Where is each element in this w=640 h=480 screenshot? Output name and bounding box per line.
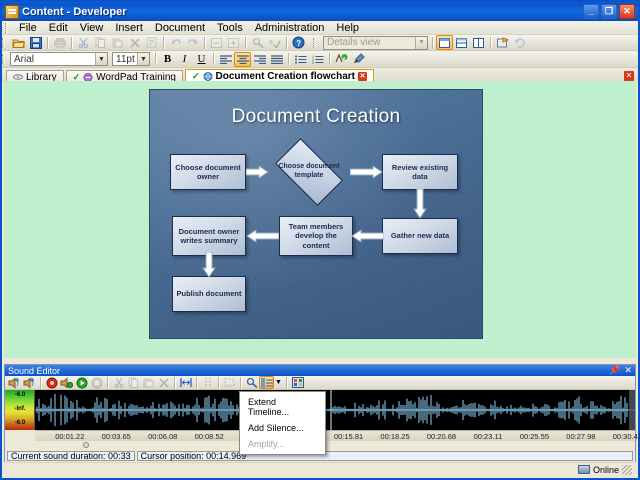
- app-icon: [5, 5, 19, 19]
- node-label: Choose document template: [267, 163, 351, 181]
- close-icon[interactable]: ✕: [624, 365, 632, 376]
- view-select: Details view ▼: [323, 36, 428, 50]
- ruler-tick: 00:08.52: [195, 432, 224, 441]
- bold-label: B: [164, 53, 171, 65]
- menu-file[interactable]: File: [13, 22, 43, 34]
- chevron-down-icon[interactable]: ▼: [415, 37, 427, 49]
- toolbar-separator: [213, 53, 214, 65]
- svg-text:?: ?: [296, 39, 301, 48]
- record-append-icon[interactable]: [59, 376, 74, 389]
- timeline-marker-handle[interactable]: [83, 442, 89, 448]
- copy-icon[interactable]: [92, 35, 109, 50]
- toolbar-separator: [240, 377, 241, 389]
- underline-label: U: [198, 53, 206, 65]
- print-icon[interactable]: [51, 35, 68, 50]
- align-justify-icon[interactable]: [268, 52, 285, 67]
- cut-icon[interactable]: [111, 376, 126, 389]
- connection-status: Online: [593, 465, 619, 475]
- open-folder-icon[interactable]: [10, 35, 27, 50]
- auto-hide-pin-icon[interactable]: 📌: [609, 365, 620, 376]
- toolbar-separator: [432, 37, 433, 49]
- toolbar-separator: [286, 377, 287, 389]
- settings-icon[interactable]: [200, 376, 215, 389]
- toolbar-separator: [490, 37, 491, 49]
- menu-administration[interactable]: Administration: [249, 22, 331, 34]
- bullet-list-icon[interactable]: [292, 52, 309, 67]
- paste-icon[interactable]: [109, 35, 126, 50]
- indent-left-icon[interactable]: [208, 35, 225, 50]
- bold-button[interactable]: B: [159, 52, 176, 67]
- menu-view[interactable]: View: [74, 22, 110, 34]
- sound-editor-toolbar: ▼: [5, 376, 635, 390]
- toolbar-grip-2[interactable]: [313, 38, 316, 48]
- application-window: Content - Developer _ ❐ ✕ File Edit View…: [0, 0, 640, 480]
- waveform-svg: [35, 390, 635, 430]
- align-center-icon[interactable]: [234, 52, 251, 67]
- toolbar-separator: [288, 53, 289, 65]
- flow-arrow-team-to-summary: [246, 228, 279, 244]
- chevron-down-icon[interactable]: ▼: [95, 53, 107, 65]
- node-label: Publish document: [176, 289, 241, 298]
- menu-bar: File Edit View Insert Document Tools Adm…: [2, 21, 638, 35]
- insert-sound-alt-icon[interactable]: [22, 376, 37, 389]
- title-bar: Content - Developer _ ❐ ✕: [2, 2, 638, 21]
- svg-text:3: 3: [312, 61, 314, 64]
- flow-node-choose-document-owner[interactable]: Choose document owner: [170, 154, 246, 190]
- select-region-icon[interactable]: [222, 376, 237, 389]
- numbered-list-icon[interactable]: 123: [309, 52, 326, 67]
- effects-context-menu: Extend Timeline... Add Silence... Amplif…: [239, 391, 326, 455]
- toolbar-separator: [71, 37, 72, 49]
- ruler-tick: 00:01.22: [55, 432, 84, 441]
- tab-close-icon[interactable]: ✕: [358, 72, 367, 81]
- menu-tools[interactable]: Tools: [211, 22, 249, 34]
- flow-node-document-owner-writes-summary[interactable]: Document owner writes summary: [172, 216, 246, 256]
- flow-node-gather-new-data[interactable]: Gather new data: [382, 218, 458, 254]
- toolbar-separator: [245, 37, 246, 49]
- node-label: Review existing data: [385, 163, 455, 182]
- cursor-position-status: Cursor position: 00:14.969: [137, 451, 633, 461]
- minimize-button[interactable]: _: [583, 4, 599, 19]
- flowchart-slide: Document Creation Choose document owner …: [149, 89, 483, 339]
- flow-node-team-members-develop-content[interactable]: Team members develop the content: [279, 216, 353, 256]
- meter-label-bottom: -6.0: [6, 420, 34, 426]
- flow-arrow-gather-to-team: [352, 228, 384, 244]
- flow-arrow-review-to-gather: [412, 189, 428, 219]
- menu-help[interactable]: Help: [330, 22, 365, 34]
- toolbar-separator: [204, 37, 205, 49]
- zoom-selection-icon[interactable]: [178, 376, 193, 389]
- meter-label-top: -6.0: [6, 392, 34, 398]
- format-toolbar-grip[interactable]: [2, 54, 5, 64]
- undo-icon[interactable]: [167, 35, 184, 50]
- sound-editor-title-bar: Sound Editor 📌 ✕: [5, 365, 635, 376]
- layout-vertical-split-icon[interactable]: [470, 35, 487, 50]
- align-right-icon[interactable]: [251, 52, 268, 67]
- insert-sound-icon[interactable]: [7, 376, 22, 389]
- spell-language-icon[interactable]: a: [333, 52, 350, 67]
- flow-arrow-summary-to-publish: [201, 252, 217, 278]
- chevron-down-icon[interactable]: ▼: [137, 53, 149, 65]
- save-icon[interactable]: [27, 35, 44, 50]
- menu-document[interactable]: Document: [149, 22, 211, 34]
- spellcheck-icon[interactable]: a: [266, 35, 283, 50]
- redo-icon[interactable]: [184, 35, 201, 50]
- flow-node-publish-document[interactable]: Publish document: [172, 276, 246, 312]
- menu-grip[interactable]: [5, 23, 8, 33]
- node-label: Choose document owner: [173, 163, 243, 182]
- meter-label-middle: -Inf.: [6, 406, 34, 412]
- svg-text:a: a: [343, 55, 346, 60]
- svg-text:a: a: [269, 39, 273, 46]
- close-button[interactable]: ✕: [619, 4, 635, 19]
- ruler-tick: 00:25.55: [520, 432, 549, 441]
- underline-button[interactable]: U: [193, 52, 210, 67]
- font-family-value: Arial: [14, 54, 34, 65]
- stop-icon[interactable]: [89, 376, 104, 389]
- slide-title: Document Creation: [150, 106, 482, 128]
- toolbar-grip[interactable]: [2, 38, 5, 48]
- flow-node-review-existing-data[interactable]: Review existing data: [382, 154, 458, 190]
- menu-item-amplify: Amplify...: [240, 436, 325, 452]
- properties-window-icon[interactable]: [494, 35, 511, 50]
- maximize-button[interactable]: ❐: [601, 4, 617, 19]
- ruler-tick: 00:03.65: [102, 432, 131, 441]
- properties-icon[interactable]: [143, 35, 160, 50]
- format-toolbar: Arial ▼ 11pt ▼ B I U 123: [2, 51, 638, 68]
- sound-editor-title: Sound Editor: [8, 366, 60, 376]
- node-label: Team members develop the content: [282, 222, 350, 250]
- paste-icon[interactable]: [141, 376, 156, 389]
- window-controls: _ ❐ ✕: [583, 4, 636, 19]
- highlight-icon[interactable]: [350, 52, 367, 67]
- font-family-select[interactable]: Arial ▼: [10, 52, 108, 66]
- play-icon[interactable]: [74, 376, 89, 389]
- italic-button[interactable]: I: [176, 52, 193, 67]
- toolbar-separator: [196, 377, 197, 389]
- toolbar-separator: [47, 37, 48, 49]
- document-canvas: Document Creation Choose document owner …: [4, 81, 636, 358]
- node-label: Document owner writes summary: [175, 227, 243, 246]
- ruler-tick: 00:23.11: [474, 432, 503, 441]
- toolbar-separator: [218, 377, 219, 389]
- record-icon[interactable]: [44, 376, 59, 389]
- ruler-tick: 00:30.41: [613, 432, 640, 441]
- node-label: Gather new data: [391, 231, 449, 240]
- effects-menu-icon[interactable]: [259, 376, 274, 389]
- mixer-icon[interactable]: [290, 376, 305, 389]
- globe-icon: [203, 72, 213, 81]
- status-bar: Online: [4, 462, 636, 476]
- layout-single-icon[interactable]: [436, 35, 453, 50]
- window-title: Content - Developer: [22, 6, 127, 18]
- indent-right-icon[interactable]: [225, 35, 242, 50]
- sound-editor-panel-buttons: 📌 ✕: [609, 365, 632, 376]
- flow-arrow-owner-to-template: [246, 164, 269, 180]
- level-meter: -6.0 -Inf. -6.0: [5, 390, 35, 430]
- sound-duration-status: Current sound duration: 00:33: [7, 451, 135, 461]
- toolbar-separator: [40, 377, 41, 389]
- menu-item-extend-timeline[interactable]: Extend Timeline...: [240, 394, 325, 420]
- refresh-icon[interactable]: [511, 35, 528, 50]
- help-icon[interactable]: ?: [290, 35, 307, 50]
- toolbar-separator: [163, 37, 164, 49]
- menu-insert[interactable]: Insert: [109, 22, 149, 34]
- menu-edit[interactable]: Edit: [43, 22, 74, 34]
- timeline-scroll-row[interactable]: [35, 441, 635, 450]
- toolbar-separator: [155, 53, 156, 65]
- toolbar-separator: [329, 53, 330, 65]
- timeline-ruler[interactable]: 00:01.2200:03.6500:06.0800:08.5200:10.95…: [35, 430, 635, 441]
- toolbar-separator: [174, 377, 175, 389]
- toolbar-separator: [286, 37, 287, 49]
- ruler-tick: 00:06.08: [148, 432, 177, 441]
- view-select-value: Details view: [327, 37, 380, 48]
- flow-arrow-template-to-review: [350, 164, 383, 180]
- delete-icon[interactable]: [126, 35, 143, 50]
- main-toolbar: a ? Details view ▼: [2, 35, 638, 51]
- font-size-value: 11pt: [116, 54, 135, 65]
- ruler-tick: 00:18.25: [380, 432, 409, 441]
- italic-label: I: [183, 53, 187, 65]
- delete-icon[interactable]: [156, 376, 171, 389]
- align-left-icon[interactable]: [217, 52, 234, 67]
- ruler-tick: 00:15.81: [334, 432, 363, 441]
- layout-horizontal-split-icon[interactable]: [453, 35, 470, 50]
- find-icon[interactable]: [249, 35, 266, 50]
- menu-item-add-silence[interactable]: Add Silence...: [240, 420, 325, 436]
- ruler-tick: 00:20.68: [427, 432, 456, 441]
- flow-node-choose-document-template[interactable]: Choose document template: [267, 148, 351, 196]
- cut-icon[interactable]: [75, 35, 92, 50]
- library-icon: [13, 73, 23, 81]
- font-size-select[interactable]: 11pt ▼: [112, 52, 150, 66]
- close-all-tabs-button[interactable]: ✕: [624, 71, 634, 81]
- toolbar-separator: [107, 377, 108, 389]
- network-icon: [578, 465, 590, 474]
- effects-dropdown-arrow[interactable]: ▼: [274, 376, 283, 389]
- zoom-icon[interactable]: [244, 376, 259, 389]
- ruler-tick: 00:27.98: [566, 432, 595, 441]
- waveform-display[interactable]: [35, 390, 635, 430]
- resize-grip[interactable]: [622, 465, 632, 475]
- copy-icon[interactable]: [126, 376, 141, 389]
